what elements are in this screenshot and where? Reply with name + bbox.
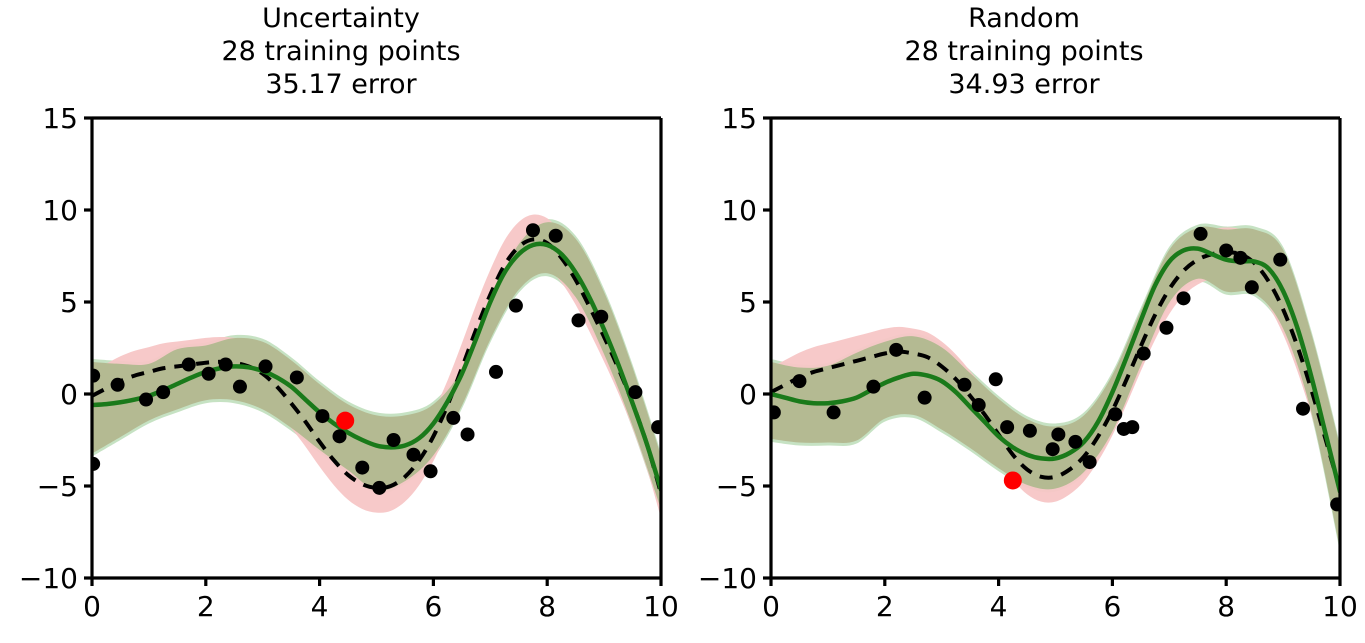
training-point <box>1219 243 1233 257</box>
x-tick-label: 8 <box>1217 590 1235 623</box>
training-point <box>355 461 369 475</box>
training-point <box>972 398 986 412</box>
training-point <box>1233 251 1247 265</box>
plot-area <box>767 224 1344 553</box>
training-point <box>290 370 304 384</box>
training-point <box>424 464 438 478</box>
y-tick-label: 15 <box>721 102 757 135</box>
training-point <box>202 367 216 381</box>
training-point <box>918 391 932 405</box>
training-point <box>461 427 475 441</box>
training-point <box>827 405 841 419</box>
training-point <box>156 385 170 399</box>
training-point <box>182 358 196 372</box>
training-point <box>572 313 586 327</box>
training-point <box>1296 402 1310 416</box>
training-point <box>1137 347 1151 361</box>
y-tick-label: 5 <box>60 286 78 319</box>
y-tick-label: 10 <box>42 194 78 227</box>
training-point <box>1159 321 1173 335</box>
highlight-query-point <box>1004 471 1022 489</box>
training-point <box>1068 435 1082 449</box>
training-point <box>139 393 153 407</box>
x-tick-label: 10 <box>1322 590 1358 623</box>
panel-random: Random 28 training points 34.93 error −1… <box>683 0 1365 643</box>
training-point <box>372 481 386 495</box>
training-point <box>767 405 781 419</box>
training-point <box>1177 291 1191 305</box>
training-point <box>889 343 903 357</box>
training-point <box>387 433 401 447</box>
training-point <box>866 380 880 394</box>
training-point <box>1083 455 1097 469</box>
plot-random: −10−50510150246810 <box>683 0 1365 643</box>
panel-uncertainty: Uncertainty 28 training points 35.17 err… <box>0 0 682 643</box>
y-tick-label: −10 <box>19 562 78 595</box>
x-tick-label: 2 <box>876 590 894 623</box>
training-point <box>315 409 329 423</box>
y-tick-label: −10 <box>698 562 757 595</box>
y-tick-label: 15 <box>42 102 78 135</box>
x-tick-label: 8 <box>538 590 556 623</box>
plot-uncertainty: −10−50510150246810 <box>0 0 682 643</box>
training-point <box>1273 253 1287 267</box>
x-tick-label: 6 <box>1103 590 1121 623</box>
training-point <box>1125 420 1139 434</box>
y-tick-label: 10 <box>721 194 757 227</box>
training-point <box>509 299 523 313</box>
training-point <box>489 365 503 379</box>
y-tick-label: −5 <box>37 470 78 503</box>
x-tick-label: 0 <box>83 590 101 623</box>
training-point <box>1046 442 1060 456</box>
training-point <box>526 223 540 237</box>
training-point <box>957 378 971 392</box>
training-point <box>549 229 563 243</box>
training-point <box>792 374 806 388</box>
training-point <box>594 310 608 324</box>
training-point <box>333 429 347 443</box>
training-point <box>1330 497 1344 511</box>
training-point <box>259 359 273 373</box>
training-point <box>406 448 420 462</box>
training-point <box>446 411 460 425</box>
training-point <box>1245 280 1259 294</box>
training-point <box>219 358 233 372</box>
plot-area <box>86 214 665 518</box>
figure-canvas: Uncertainty 28 training points 35.17 err… <box>0 0 1365 643</box>
training-point <box>233 380 247 394</box>
y-tick-label: −5 <box>716 470 757 503</box>
x-tick-label: 4 <box>990 590 1008 623</box>
training-point <box>989 372 1003 386</box>
x-tick-label: 10 <box>643 590 679 623</box>
y-tick-label: 0 <box>60 378 78 411</box>
x-tick-label: 6 <box>424 590 442 623</box>
highlight-query-point <box>336 412 354 430</box>
training-point <box>1000 420 1014 434</box>
training-point <box>651 420 665 434</box>
training-point <box>1023 424 1037 438</box>
training-point <box>1108 407 1122 421</box>
training-point <box>1194 227 1208 241</box>
training-point <box>1051 427 1065 441</box>
x-tick-label: 4 <box>311 590 329 623</box>
y-tick-label: 0 <box>739 378 757 411</box>
y-tick-label: 5 <box>739 286 757 319</box>
training-point <box>628 385 642 399</box>
training-point <box>111 378 125 392</box>
x-tick-label: 0 <box>762 590 780 623</box>
x-tick-label: 2 <box>197 590 215 623</box>
